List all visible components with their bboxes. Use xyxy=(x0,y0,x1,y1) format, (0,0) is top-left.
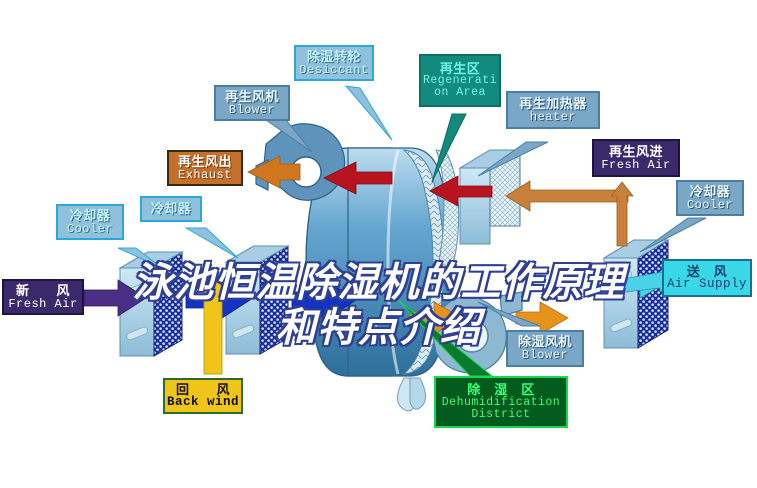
label-en: Regenerati on Area xyxy=(423,75,497,99)
label-en: Blower xyxy=(229,104,275,117)
title-line-2: 和特点介绍 xyxy=(0,306,757,351)
label-en: Fresh Air xyxy=(601,159,670,172)
label-cooler-right[interactable]: 冷却器 Cooler xyxy=(676,180,744,216)
label-cn: 再生风出 xyxy=(178,155,232,169)
label-en: heater xyxy=(530,111,576,124)
label-en: Exhaust xyxy=(178,169,232,182)
label-regen-heater[interactable]: 再生加热器 heater xyxy=(506,91,600,129)
label-cn: 再生区 xyxy=(440,62,481,76)
label-desiccant-wheel[interactable]: 除湿转轮 Desiccant xyxy=(294,45,374,81)
regen-fresh-arrow xyxy=(506,181,628,211)
label-en: Desiccant xyxy=(299,64,368,77)
label-regen-blower[interactable]: 再生风机 Blower xyxy=(214,85,290,121)
title-line-1: 泳池恒温除湿机的工作原理 xyxy=(133,260,625,306)
label-cn: 再生风机 xyxy=(225,90,279,104)
label-en: Cooler xyxy=(687,199,733,212)
label-cn: 冷却器 xyxy=(151,202,192,216)
label-regen-exhaust[interactable]: 再生风出 Exhaust xyxy=(167,150,243,186)
label-regen-fresh-air-in[interactable]: 再生风进 Fresh Air xyxy=(592,139,680,177)
label-en: Back wind xyxy=(167,396,239,409)
page-title: 泳池恒温除湿机的工作原理 和特点介绍 xyxy=(0,216,757,395)
label-regeneration-area[interactable]: 再生区 Regenerati on Area xyxy=(419,54,501,107)
label-cn: 再生加热器 xyxy=(519,97,587,111)
label-cn: 冷却器 xyxy=(690,185,731,199)
label-cn: 再生风进 xyxy=(609,145,663,159)
diagram-canvas: xt 除湿转轮 Desiccant 再生风机 Blower 再生区 Regene… xyxy=(0,0,757,488)
label-cn: 除湿转轮 xyxy=(307,50,361,64)
label-en: Dehumidification District xyxy=(442,397,560,421)
